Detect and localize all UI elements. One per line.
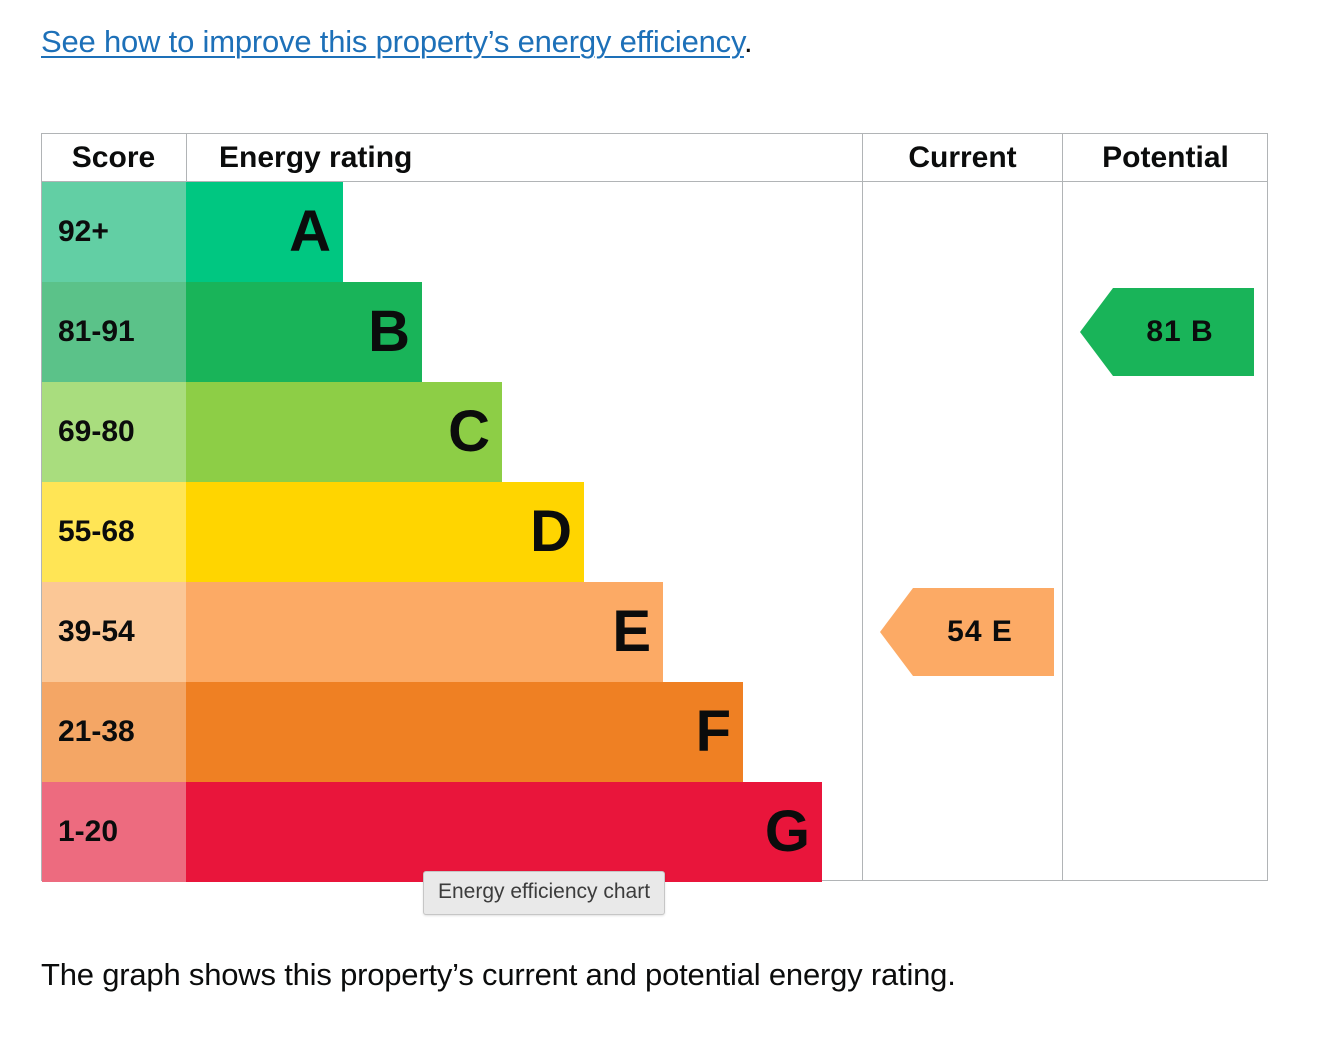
rating-letter: D (530, 503, 572, 561)
header-potential: Potential (1062, 134, 1268, 181)
score-cell-c: 69-80 (42, 382, 186, 482)
band-row-f: 21-38F (42, 682, 1267, 782)
band-row-e: 39-54E (42, 582, 1267, 682)
header-energy-rating: Energy rating (186, 134, 862, 181)
potential-rating-value: 81 B (1120, 315, 1213, 349)
score-cell-g: 1-20 (42, 782, 186, 882)
header-current: Current (862, 134, 1062, 181)
score-range-label: 81-91 (58, 315, 135, 349)
score-cell-b: 81-91 (42, 282, 186, 382)
rating-bar-e: E (186, 582, 663, 682)
header-score: Score (42, 134, 185, 181)
score-cell-e: 39-54 (42, 582, 186, 682)
improve-energy-efficiency-link[interactable]: See how to improve this property’s energ… (41, 24, 744, 59)
rating-letter: B (368, 303, 410, 361)
score-range-label: 55-68 (58, 515, 135, 549)
rating-letter: G (765, 803, 810, 861)
potential-rating-arrow: 81 B (1080, 288, 1254, 376)
chart-caption: The graph shows this property’s current … (41, 955, 956, 995)
improve-energy-efficiency-link-wrap: See how to improve this property’s energ… (41, 22, 752, 62)
band-row-c: 69-80C (42, 382, 1267, 482)
rating-bar-a: A (186, 182, 343, 282)
score-cell-f: 21-38 (42, 682, 186, 782)
chart-header-row: Score Energy rating Current Potential (42, 134, 1267, 182)
rating-bar-d: D (186, 482, 584, 582)
score-range-label: 39-54 (58, 615, 135, 649)
rating-bar-f: F (186, 682, 743, 782)
score-range-label: 21-38 (58, 715, 135, 749)
band-row-a: 92+A (42, 182, 1267, 282)
score-cell-a: 92+ (42, 182, 186, 282)
score-range-label: 92+ (58, 215, 109, 249)
rating-letter: F (696, 703, 731, 761)
rating-bar-g: G (186, 782, 822, 882)
energy-efficiency-chart: Score Energy rating Current Potential 92… (41, 133, 1268, 881)
score-range-label: 69-80 (58, 415, 135, 449)
link-trailing-period: . (744, 24, 752, 59)
rating-letter: A (289, 203, 331, 261)
rating-letter: C (448, 403, 490, 461)
chart-tooltip: Energy efficiency chart (423, 871, 665, 915)
rating-letter: E (612, 603, 651, 661)
rating-bar-c: C (186, 382, 502, 482)
current-rating-value: 54 E (921, 615, 1013, 649)
rating-bar-b: B (186, 282, 422, 382)
score-cell-d: 55-68 (42, 482, 186, 582)
current-rating-arrow: 54 E (880, 588, 1054, 676)
score-range-label: 1-20 (58, 815, 118, 849)
band-row-d: 55-68D (42, 482, 1267, 582)
band-row-g: 1-20G (42, 782, 1267, 882)
